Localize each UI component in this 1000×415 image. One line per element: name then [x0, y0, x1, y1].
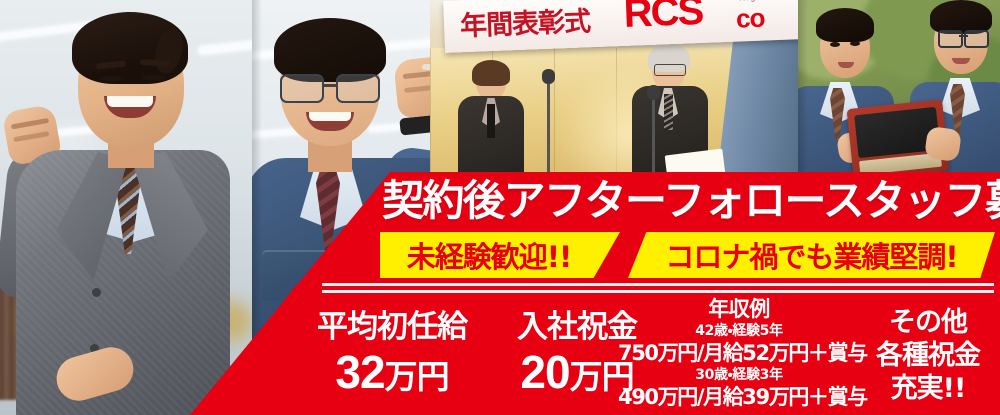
stat-value: 32万円 — [292, 346, 492, 403]
stats-row: 平均初任給 32万円 入社祝金 20万円 年収例 42歳・経験5年 750万円/… — [0, 300, 1000, 415]
divider-line — [322, 283, 994, 286]
stat-unit: 万円 — [385, 357, 449, 396]
divider-line — [322, 290, 994, 293]
badge-no-experience: 未経験歓迎!! — [380, 232, 620, 278]
stat-amount: 32 — [335, 346, 384, 398]
income-heading: 年収例 — [618, 296, 860, 322]
badge-group: 未経験歓迎!! コロナ禍でも業績堅調! — [380, 232, 995, 278]
other-benefits-line: その他 — [856, 306, 1000, 339]
job-advertisement-banner: 年間表彰式 RCS Regional co — [0, 0, 1000, 415]
divider-rules — [322, 283, 994, 297]
income-case-pay: 490万円/月給39万円＋賞与 — [618, 385, 860, 410]
stat-amount: 20 — [520, 346, 569, 398]
other-benefits-line: 各種祝金 — [856, 339, 1000, 372]
other-benefits: その他 各種祝金 充実!! — [856, 306, 1000, 405]
income-examples: 年収例 42歳・経験5年 750万円/月給52万円＋賞与 30歳・経験3年 49… — [618, 296, 860, 410]
stat-label: 平均初任給 — [292, 308, 492, 346]
income-case-pay: 750万円/月給52万円＋賞与 — [618, 341, 860, 366]
badge-strong-performance: コロナ禍でも業績堅調! — [628, 232, 995, 278]
income-case-age: 42歳・経験5年 — [618, 322, 860, 341]
headline: 契約後アフターフォロースタッフ募集!! — [382, 174, 994, 228]
other-benefits-line: 充実!! — [856, 372, 1000, 405]
banner-content: 契約後アフターフォロースタッフ募集!! 未経験歓迎!! コロナ禍でも業績堅調! … — [0, 0, 1000, 415]
stat-average-starting-salary: 平均初任給 32万円 — [292, 308, 492, 403]
income-case-age: 30歳・経験3年 — [618, 366, 860, 385]
